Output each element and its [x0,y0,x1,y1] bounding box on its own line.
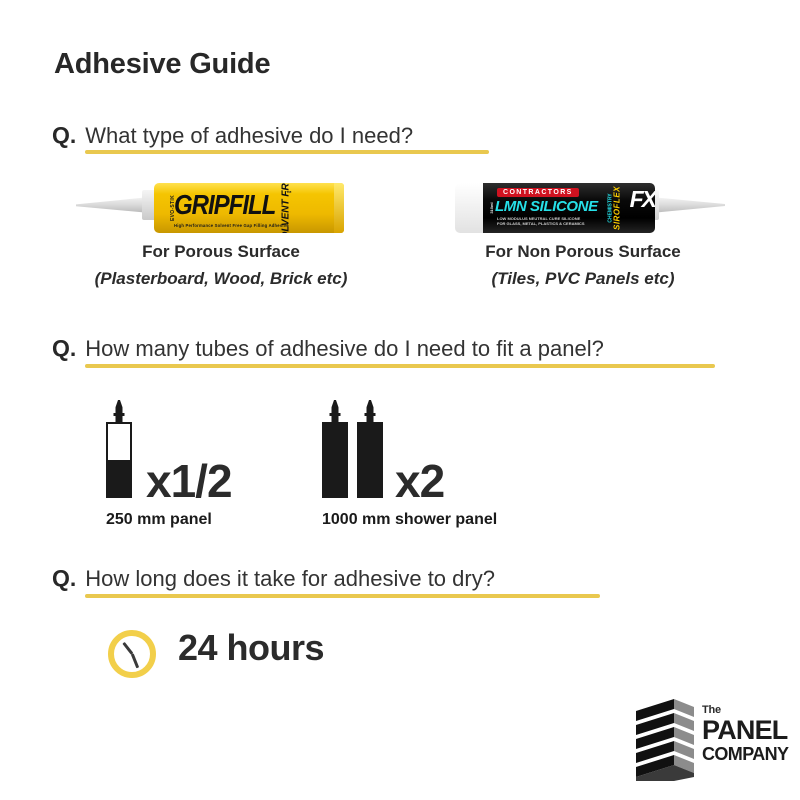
tube-ring-icon [365,413,376,416]
logo-company-text: COMPANY [702,745,788,764]
gripfill-cap-end [334,183,344,233]
page-title: Adhesive Guide [54,48,270,81]
label-1000mm: 1000 mm shower panel [322,511,497,529]
porous-caption-line1: For Porous Surface [21,242,421,262]
logo-wordmark: The PANEL COMPANY [702,705,788,764]
question-3-text: How long does it take for adhesive to dr… [85,566,495,592]
question-1-underline [85,150,489,154]
silicone-description-line2: FOR GLASS, METAL, PLASTICS & CERAMICS [497,221,584,226]
non-porous-surface-caption: For Non Porous Surface (Tiles, PVC Panel… [383,242,783,289]
porous-caption-line2: (Plasterboard, Wood, Brick etc) [21,269,421,289]
question-marker: Q. [52,565,76,592]
silicone-description: LOW MODULUS NEUTRAL CURE SILICONE FOR GL… [497,216,584,226]
tube-fill-level [324,424,346,496]
tube-nozzle-icon [332,400,339,424]
label-250mm: 250 mm panel [106,511,212,529]
silicone-label: 310ml CONTRACTORS LMN SILICONE LOW MODUL… [483,183,655,233]
question-marker: Q. [52,335,76,362]
silicone-maker-text: SIROFLEX [612,186,621,230]
infographic-page: Adhesive Guide Q. What type of adhesive … [0,0,800,800]
tube-body-icon [322,422,348,498]
silicone-nozzle [651,197,725,213]
tube-ring-icon [330,413,341,416]
panel-stack-icon [634,697,696,783]
question-1: Q. What type of adhesive do I need? [52,122,413,149]
question-2-underline [85,364,715,368]
non-porous-caption-line2: (Tiles, PVC Panels etc) [383,269,783,289]
company-logo: The PANEL COMPANY [634,697,784,783]
question-3: Q. How long does it take for adhesive to… [52,565,495,592]
adhesive-tube-icon [322,400,348,498]
tube-fill-level [359,424,381,496]
half-tube-icon-set [106,400,132,498]
question-3-underline [85,594,600,598]
silicone-side-text: 310ml [489,202,494,213]
tube-ring-icon [114,413,125,416]
silicone-banner: CONTRACTORS [497,188,579,197]
silicone-body: 310ml CONTRACTORS LMN SILICONE LOW MODUL… [455,183,655,233]
multiplier-250mm: x1/2 [146,454,232,508]
gripfill-feature-line2: FREE [280,183,291,197]
tube-nozzle-icon [367,400,374,424]
gripfill-body: EVO-STIK GRIPFILL ™ SOLVENT FREE High Pe… [154,183,344,233]
silicone-fx-mark: FX [630,187,655,211]
question-1-text: What type of adhesive do I need? [85,123,413,149]
tube-nozzle-icon [116,400,123,424]
tube-body-icon [106,422,132,498]
tube-body-icon [357,422,383,498]
porous-surface-caption: For Porous Surface (Plasterboard, Wood, … [21,242,421,289]
logo-panel-text: PANEL [702,717,788,744]
clock-icon [108,630,156,678]
tube-fill-level [108,460,130,496]
silicone-brand-text: LMN SILICONE [495,198,598,215]
gripfill-nozzle [76,197,150,213]
gripfill-tagline: High Performance Solvent Free Gap Fillin… [174,223,289,228]
double-tube-icon-set [322,400,383,498]
question-2: Q. How many tubes of adhesive do I need … [52,335,604,362]
drying-time-answer: 24 hours [178,627,324,669]
gripfill-brand-text: GRIPFILL [174,190,275,222]
gripfill-tube-image: EVO-STIK GRIPFILL ™ SOLVENT FREE High Pe… [76,180,344,236]
silicone-tube-image: 310ml CONTRACTORS LMN SILICONE LOW MODUL… [455,180,725,236]
adhesive-tube-icon [106,400,132,498]
multiplier-1000mm: x2 [395,454,444,508]
adhesive-tube-icon [357,400,383,498]
question-marker: Q. [52,122,76,149]
non-porous-caption-line1: For Non Porous Surface [383,242,783,262]
question-2-text: How many tubes of adhesive do I need to … [85,336,604,362]
